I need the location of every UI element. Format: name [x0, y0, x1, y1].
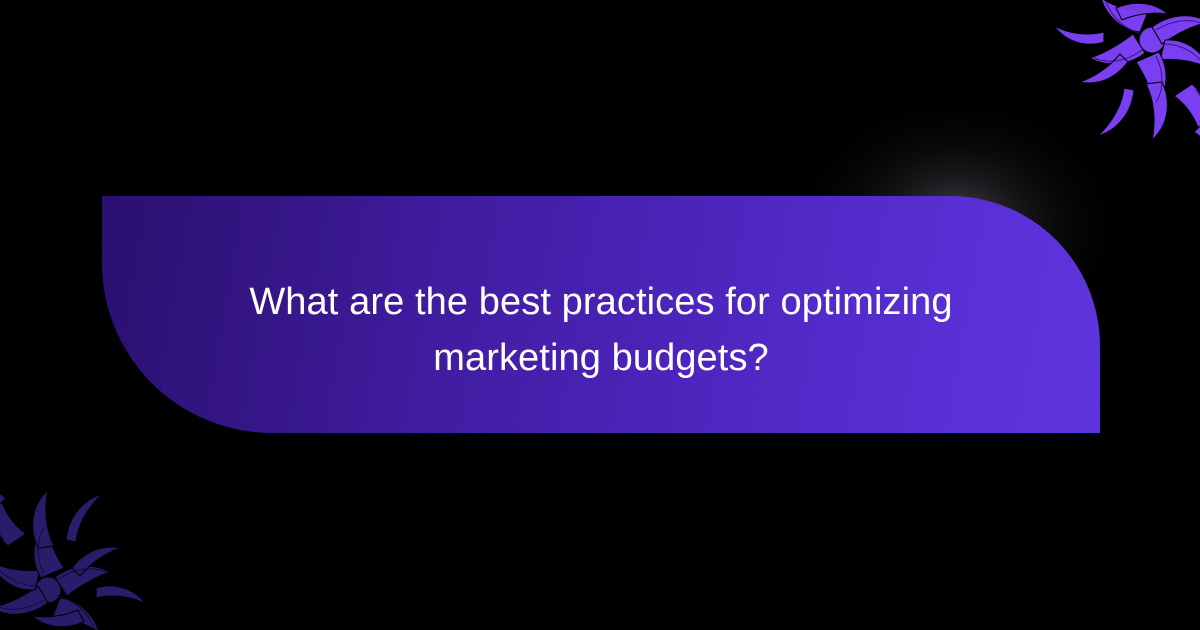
- promo-card: What are the best practices for optimizi…: [0, 0, 1200, 630]
- question-line-2: marketing budgets?: [162, 330, 1040, 386]
- question-text: What are the best practices for optimizi…: [102, 274, 1100, 386]
- question-banner: What are the best practices for optimizi…: [102, 196, 1100, 433]
- question-line-1: What are the best practices for optimizi…: [162, 274, 1040, 330]
- floral-ornament-icon-top-right: [956, 0, 1200, 222]
- floral-ornament-icon-bottom-left: [0, 408, 244, 630]
